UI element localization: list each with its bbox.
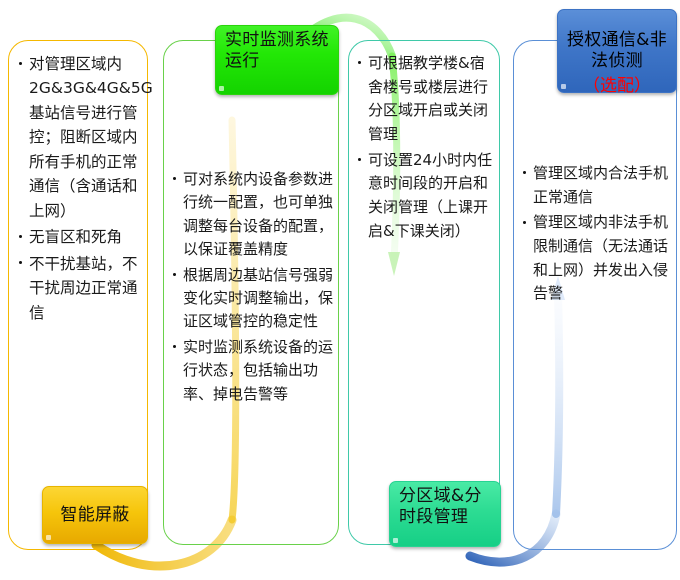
tag-label: 授权通信&非法侦测 xyxy=(562,30,672,71)
bullet-list-zoning: 可根据教学楼&宿舍楼号或楼层进行分区域开启或关闭管理 可设置24小时内任意时间段… xyxy=(357,52,495,246)
list-item: 根据周边基站信号强弱变化实时调整输出，保证区域管控的稳定性 xyxy=(172,264,334,334)
bullet-list-monitoring: 可对系统内设备参数进行统一配置，也可单独调整每台设备的配置，以保证覆盖精度 根据… xyxy=(172,168,334,408)
list-item: 不干扰基站，不干扰周边正常通信 xyxy=(18,252,142,325)
tag-label: 智能屏蔽 xyxy=(60,505,129,526)
tag-label: 实时监测系统运行 xyxy=(225,30,330,71)
tag-label: 分区域&分时段管理 xyxy=(399,486,492,527)
bullet-list-authorized-comm: 管理区域内合法手机正常通信 管理区域内非法手机限制通信（无法通话和上网）并发出入… xyxy=(522,162,672,308)
list-item: 可设置24小时内任意时间段的开启和关闭管理（上课开启&下课关闭） xyxy=(357,149,495,244)
list-item: 可根据教学楼&宿舍楼号或楼层进行分区域开启或关闭管理 xyxy=(357,52,495,147)
bullet-list-shielding: 对管理区域内2G&3G&4G&5G基站信号进行管控；阻断区域内所有手机的正常通信… xyxy=(18,52,142,327)
list-item: 可对系统内设备参数进行统一配置，也可单独调整每台设备的配置，以保证覆盖精度 xyxy=(172,168,334,262)
list-item: 管理区域内合法手机正常通信 xyxy=(522,162,672,209)
tag-intelligent-shielding[interactable]: 智能屏蔽 xyxy=(42,486,148,544)
tag-zone-time-management[interactable]: 分区域&分时段管理 xyxy=(389,481,501,547)
list-item: 管理区域内非法手机限制通信（无法通话和上网）并发出入侵告警 xyxy=(522,211,672,306)
list-item: 实时监测系统设备的运行状态，包括输出功率、掉电告警等 xyxy=(172,336,334,406)
tag-realtime-monitoring[interactable]: 实时监测系统运行 xyxy=(215,25,339,95)
optional-note: （选配） xyxy=(557,76,677,96)
diagram-canvas: 对管理区域内2G&3G&4G&5G基站信号进行管控；阻断区域内所有手机的正常通信… xyxy=(0,0,680,580)
list-item: 无盲区和死角 xyxy=(18,225,142,249)
list-item: 对管理区域内2G&3G&4G&5G基站信号进行管控；阻断区域内所有手机的正常通信… xyxy=(18,52,142,223)
